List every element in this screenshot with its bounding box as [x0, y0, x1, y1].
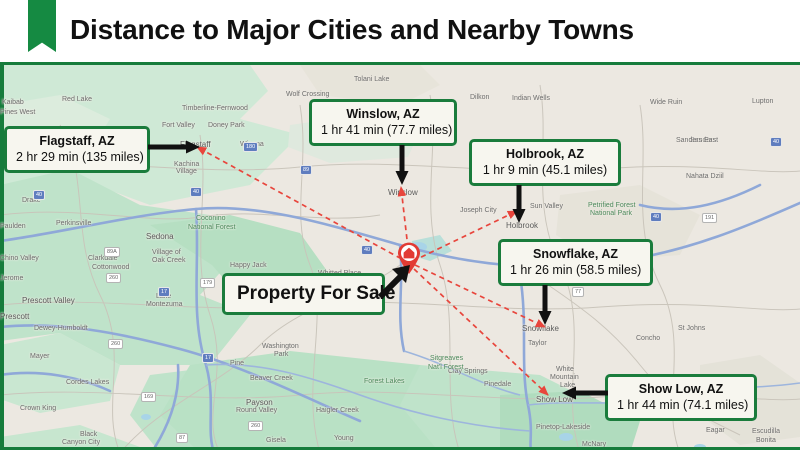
callout-distance-winslow: 1 hr 41 min (77.7 miles) [321, 122, 445, 138]
callout-distance-flagstaff: 2 hr 29 min (135 miles) [16, 149, 138, 165]
callout-distance-holbrook: 1 hr 9 min (45.1 miles) [481, 162, 609, 178]
property-for-sale-label: Property For Sale [237, 282, 370, 305]
callout-distance-showlow: 1 hr 44 min (74.1 miles) [617, 397, 745, 413]
callout-snowflake[interactable]: Snowflake, AZ 1 hr 26 min (58.5 miles) [498, 239, 653, 286]
route-to-flagstaff [197, 147, 409, 263]
callout-city-showlow: Show Low, AZ [617, 381, 745, 397]
callout-property-for-sale[interactable]: Property For Sale [222, 273, 385, 315]
arrow-holbrook [512, 185, 528, 225]
arrow-snowflake [538, 285, 554, 327]
callout-holbrook[interactable]: Holbrook, AZ 1 hr 9 min (45.1 miles) [469, 139, 621, 186]
route-to-showlow [414, 269, 548, 395]
callout-winslow[interactable]: Winslow, AZ 1 hr 41 min (77.7 miles) [309, 99, 457, 146]
arrow-flagstaff [148, 140, 208, 156]
arrow-showlow [562, 386, 608, 402]
callout-city-holbrook: Holbrook, AZ [481, 146, 609, 162]
header-bar: Distance to Major Cities and Nearby Town… [0, 0, 800, 62]
callout-city-snowflake: Snowflake, AZ [510, 246, 641, 262]
page-title: Distance to Major Cities and Nearby Town… [70, 14, 634, 46]
bookmark-ribbon-icon [28, 0, 56, 52]
callout-city-flagstaff: Flagstaff, AZ [16, 133, 138, 149]
callout-showlow[interactable]: Show Low, AZ 1 hr 44 min (74.1 miles) [605, 374, 757, 421]
callout-distance-snowflake: 1 hr 26 min (58.5 miles) [510, 262, 641, 278]
arrow-property [378, 263, 414, 299]
callout-flagstaff[interactable]: Flagstaff, AZ 2 hr 29 min (135 miles) [4, 126, 150, 173]
screenshot-root: Distance to Major Cities and Nearby Town… [0, 0, 800, 450]
arrow-winslow [395, 145, 411, 187]
callout-city-winslow: Winslow, AZ [321, 106, 445, 122]
